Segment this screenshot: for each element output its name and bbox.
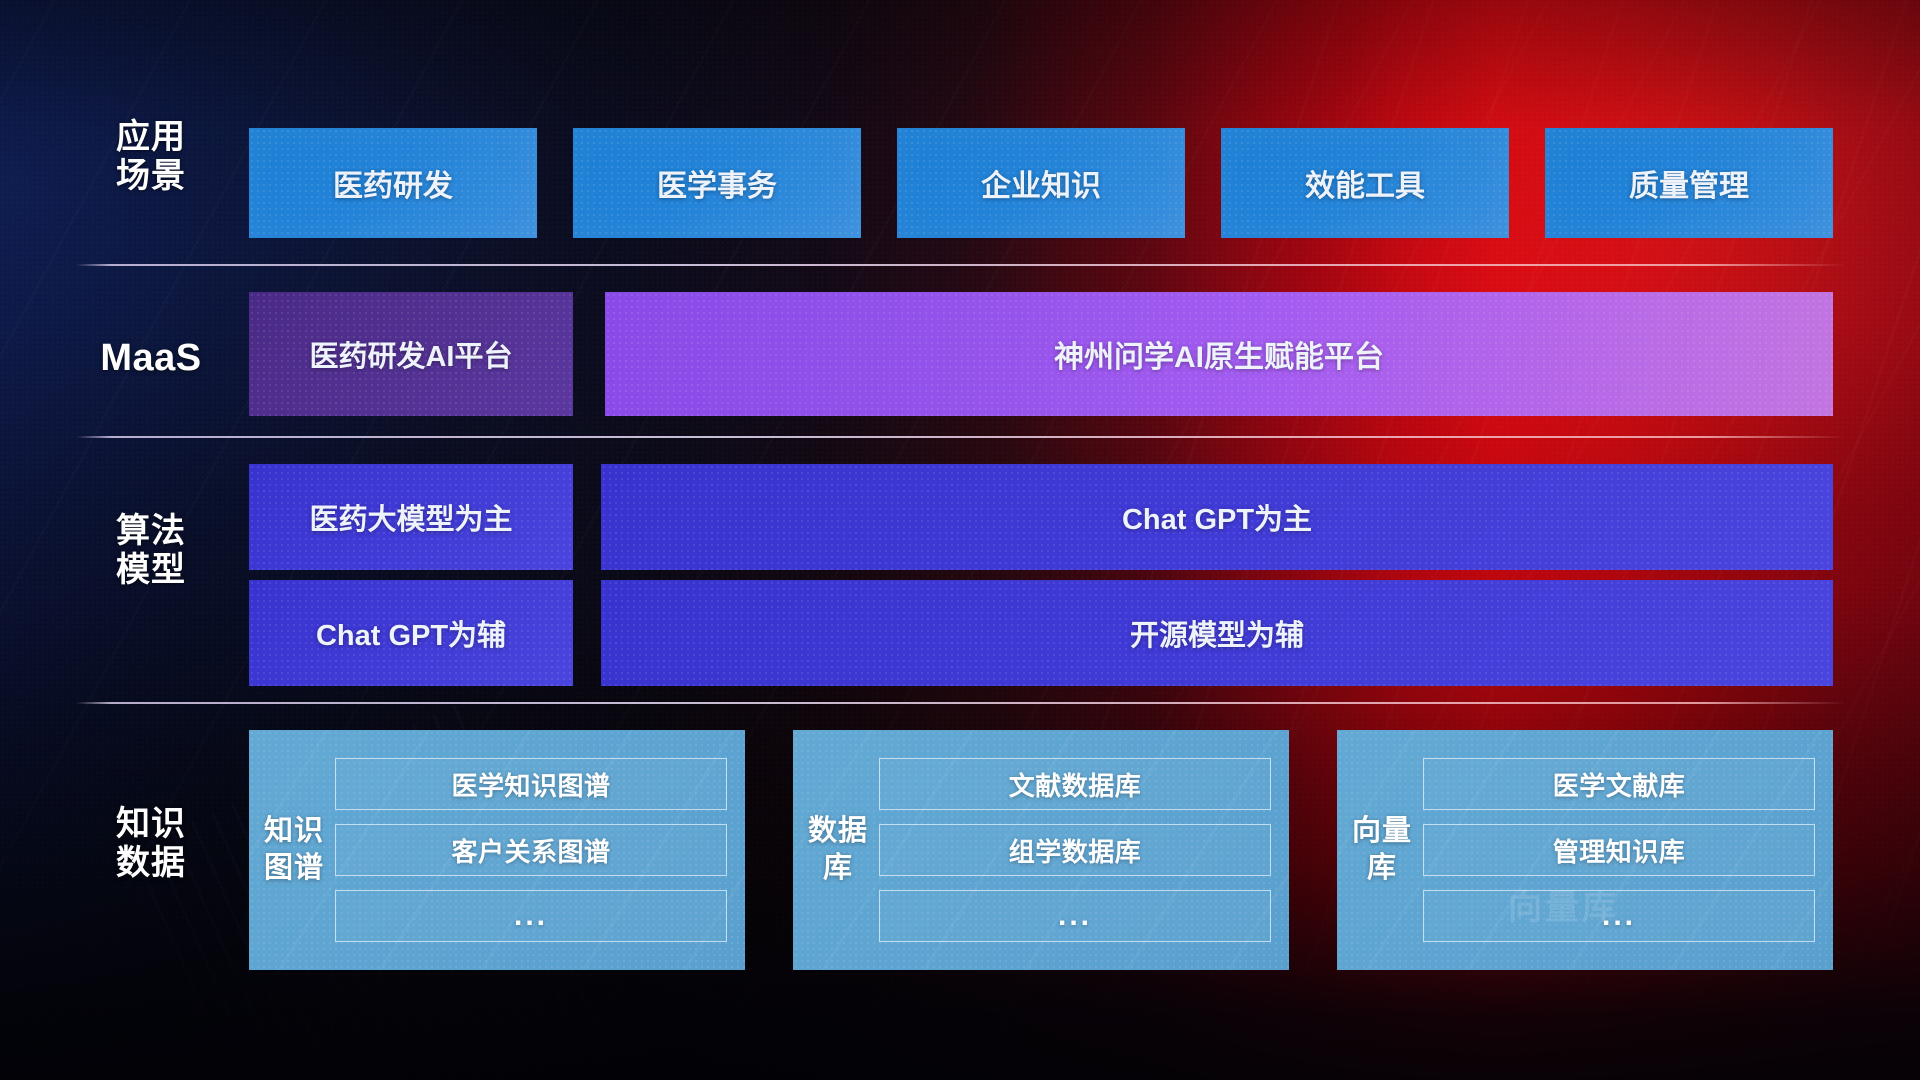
diagram-content: 应用 场景 医药研发 医学事务 企业知识 效能工具 质量管理 MaaS [0,0,1920,1080]
maas-block-pharma-ai-platform[interactable]: 医药研发AI平台 [249,292,573,416]
algo-block-pharma-llm-primary[interactable]: 医药大模型为主 [249,464,573,570]
algo-block-label: 开源模型为辅 [1130,612,1304,654]
row-label-maas: MaaS [76,336,226,380]
row-label-application-scenarios: 应用 场景 [76,118,226,197]
knowledge-card-title: 知识图谱 [263,813,325,887]
app-block-label: 企业知识 [981,161,1101,205]
watermark-text: 向量库 [1508,880,1619,929]
row-label-text: MaaS [76,336,226,380]
maas-block-label: 医药研发AI平台 [309,333,512,375]
algo-block-opensource-secondary[interactable]: 开源模型为辅 [601,580,1833,686]
row-label-line1: 知识 [76,805,226,844]
knowledge-card-title: 数据库 [807,813,869,887]
knowledge-card-items: 医学文献库 管理知识库 ... [1423,758,1815,942]
knowledge-item[interactable]: 文献数据库 [879,758,1271,810]
knowledge-item[interactable]: 医学知识图谱 [335,758,727,810]
row-label-line2: 模型 [76,551,226,590]
app-block-enterprise-knowledge[interactable]: 企业知识 [897,128,1185,238]
knowledge-card-items: 文献数据库 组学数据库 ... [879,758,1271,942]
divider-1 [76,264,1846,266]
row-label-algorithm-model: 算法 模型 [76,512,226,591]
app-block-label: 医药研发 [333,161,453,205]
knowledge-item[interactable]: 管理知识库 [1423,824,1815,876]
row-label-knowledge-data: 知识 数据 [76,805,226,884]
row-label-line1: 应用 [76,118,226,157]
algo-block-label: Chat GPT为辅 [316,612,506,654]
knowledge-card-knowledge-graph[interactable]: 知识图谱 医学知识图谱 客户关系图谱 ... [249,730,745,970]
app-block-medicine-rnd[interactable]: 医药研发 [249,128,537,238]
maas-block-label: 神州问学AI原生赋能平台 [1054,332,1384,376]
algo-block-label: Chat GPT为主 [1122,496,1312,538]
knowledge-card-vector-store[interactable]: 向量库 医学文献库 管理知识库 ... [1337,730,1833,970]
algo-block-chatgpt-primary[interactable]: Chat GPT为主 [601,464,1833,570]
divider-3 [76,702,1846,704]
row-label-line2: 数据 [76,844,226,883]
algo-block-chatgpt-secondary[interactable]: Chat GPT为辅 [249,580,573,686]
knowledge-card-database[interactable]: 数据库 文献数据库 组学数据库 ... [793,730,1289,970]
app-block-label: 效能工具 [1305,161,1425,205]
divider-2 [76,436,1846,438]
knowledge-card-title: 向量库 [1351,813,1413,887]
algo-block-label: 医药大模型为主 [309,496,512,538]
row-label-line1: 算法 [76,512,226,551]
app-block-label: 医学事务 [657,161,777,205]
knowledge-card-items: 医学知识图谱 客户关系图谱 ... [335,758,727,942]
app-block-label: 质量管理 [1629,161,1749,205]
app-block-medical-affairs[interactable]: 医学事务 [573,128,861,238]
knowledge-item-more[interactable]: ... [335,890,727,942]
row-label-line2: 场景 [76,157,226,196]
knowledge-item-more[interactable]: ... [1423,890,1815,942]
knowledge-item[interactable]: 医学文献库 [1423,758,1815,810]
app-block-quality-management[interactable]: 质量管理 [1545,128,1833,238]
knowledge-item-more[interactable]: ... [879,890,1271,942]
knowledge-item[interactable]: 客户关系图谱 [335,824,727,876]
slide-canvas: 应用 场景 医药研发 医学事务 企业知识 效能工具 质量管理 MaaS [0,0,1920,1080]
knowledge-item[interactable]: 组学数据库 [879,824,1271,876]
app-block-efficiency-tools[interactable]: 效能工具 [1221,128,1509,238]
maas-block-shenzhou-wenxue-platform[interactable]: 神州问学AI原生赋能平台 [605,292,1833,416]
